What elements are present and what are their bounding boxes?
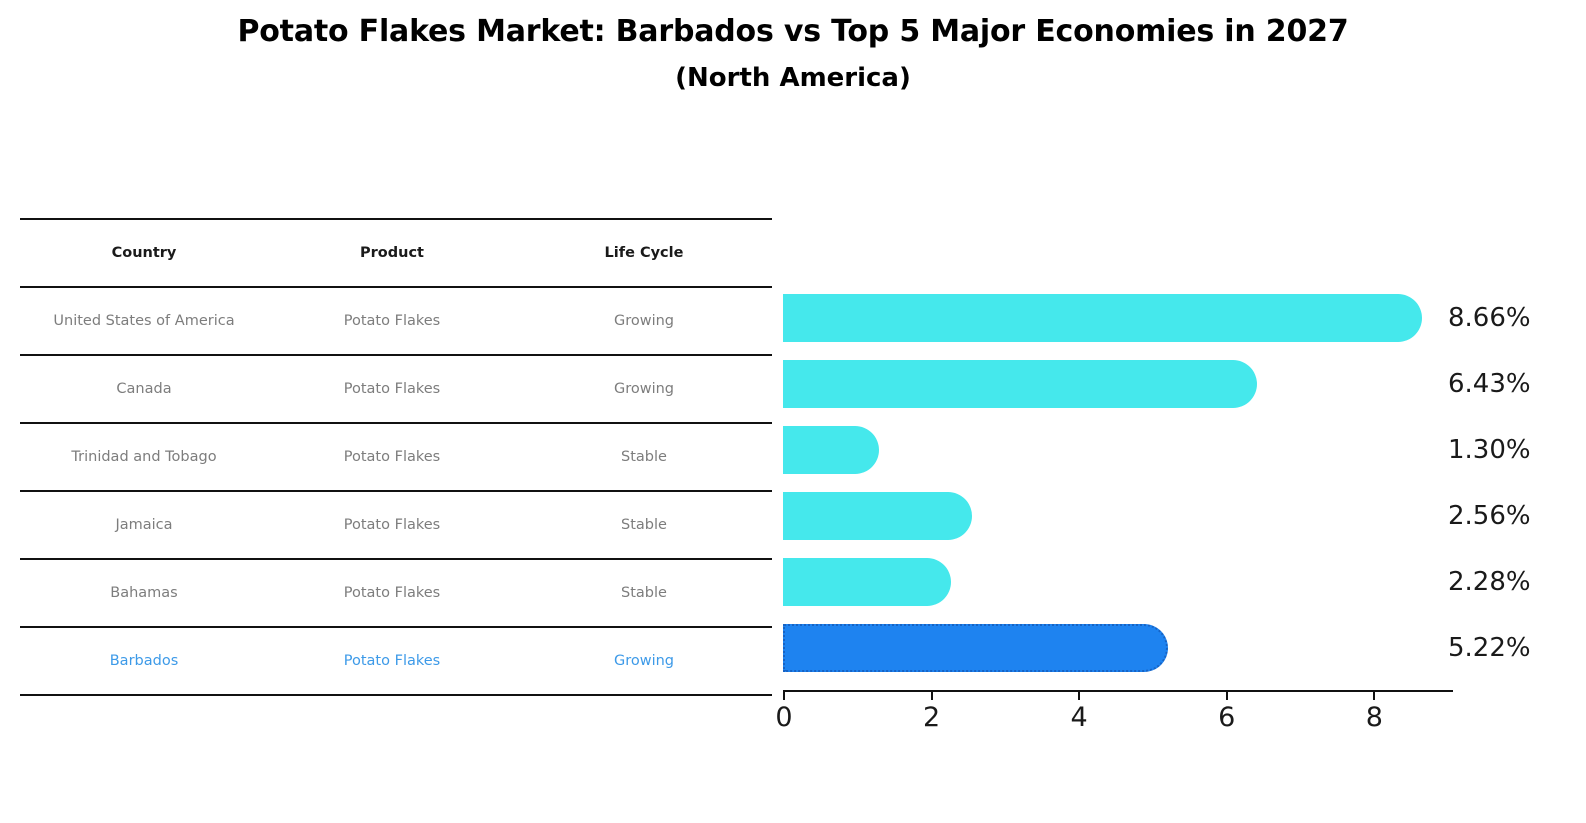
cell-product: Potato Flakes: [268, 287, 516, 355]
bar-row: 1.30%: [783, 417, 1483, 483]
bar-value-label: 8.66%: [1448, 294, 1531, 342]
cell-life-cycle: Growing: [516, 355, 772, 423]
table-row: United States of America Potato Flakes G…: [20, 287, 772, 355]
cell-life-cycle: Stable: [516, 559, 772, 627]
column-header-product: Product: [268, 219, 516, 287]
country-table: Country Product Life Cycle United States…: [20, 218, 772, 696]
page-subtitle: (North America): [0, 61, 1586, 96]
bar-value-label: 2.56%: [1448, 492, 1531, 540]
table-row: Trinidad and Tobago Potato Flakes Stable: [20, 423, 772, 491]
cell-life-cycle: Growing: [516, 627, 772, 695]
cell-life-cycle: Growing: [516, 287, 772, 355]
cell-life-cycle: Stable: [516, 491, 772, 559]
x-axis-tick: [783, 692, 785, 700]
bar-value-label: 6.43%: [1448, 360, 1531, 408]
table-body: United States of America Potato Flakes G…: [20, 287, 772, 695]
cell-product: Potato Flakes: [268, 491, 516, 559]
bar-value-label: 5.22%: [1448, 624, 1531, 672]
table-row: Jamaica Potato Flakes Stable: [20, 491, 772, 559]
column-header-life-cycle: Life Cycle: [516, 219, 772, 287]
cell-product: Potato Flakes: [268, 355, 516, 423]
bar-row: 5.22%: [783, 615, 1483, 681]
bar-highlighted[interactable]: [783, 624, 1168, 672]
bar[interactable]: [783, 294, 1422, 342]
table-header-row: Country Product Life Cycle: [20, 219, 772, 287]
cell-life-cycle: Stable: [516, 423, 772, 491]
table-row: Canada Potato Flakes Growing: [20, 355, 772, 423]
bar-row: 6.43%: [783, 351, 1483, 417]
cell-country: Canada: [20, 355, 268, 423]
cell-product: Potato Flakes: [268, 423, 516, 491]
cell-country: United States of America: [20, 287, 268, 355]
cell-country: Jamaica: [20, 491, 268, 559]
bar[interactable]: [783, 558, 951, 606]
x-axis-tick: [931, 692, 933, 700]
x-axis-tick-label: 6: [1218, 702, 1235, 733]
cell-country: Barbados: [20, 627, 268, 695]
bar-row: 2.56%: [783, 483, 1483, 549]
x-axis-line: [783, 690, 1453, 692]
bar[interactable]: [783, 360, 1257, 408]
bar[interactable]: [783, 426, 879, 474]
bar-chart-plot-area: 8.66%6.43%1.30%2.56%2.28%5.22%: [783, 285, 1483, 705]
x-axis: 02468: [783, 690, 1453, 750]
x-axis-tick-label: 0: [775, 702, 792, 733]
cell-country: Bahamas: [20, 559, 268, 627]
x-axis-tick-label: 8: [1366, 702, 1383, 733]
x-axis-tick: [1078, 692, 1080, 700]
cell-country: Trinidad and Tobago: [20, 423, 268, 491]
title-block: Potato Flakes Market: Barbados vs Top 5 …: [0, 12, 1586, 96]
x-axis-tick: [1226, 692, 1228, 700]
x-axis-tick-label: 4: [1071, 702, 1088, 733]
cell-product: Potato Flakes: [268, 627, 516, 695]
table-row: Bahamas Potato Flakes Stable: [20, 559, 772, 627]
bar-value-label: 2.28%: [1448, 558, 1531, 606]
country-table-panel: Country Product Life Cycle United States…: [20, 218, 772, 696]
x-axis-tick-label: 2: [923, 702, 940, 733]
table-row-highlighted: Barbados Potato Flakes Growing: [20, 627, 772, 695]
page-title: Potato Flakes Market: Barbados vs Top 5 …: [0, 12, 1586, 53]
bar[interactable]: [783, 492, 972, 540]
bar-row: 8.66%: [783, 285, 1483, 351]
bar-row: 2.28%: [783, 549, 1483, 615]
x-axis-tick: [1373, 692, 1375, 700]
column-header-country: Country: [20, 219, 268, 287]
table-header: Country Product Life Cycle: [20, 219, 772, 287]
bar-value-label: 1.30%: [1448, 426, 1531, 474]
cell-product: Potato Flakes: [268, 559, 516, 627]
